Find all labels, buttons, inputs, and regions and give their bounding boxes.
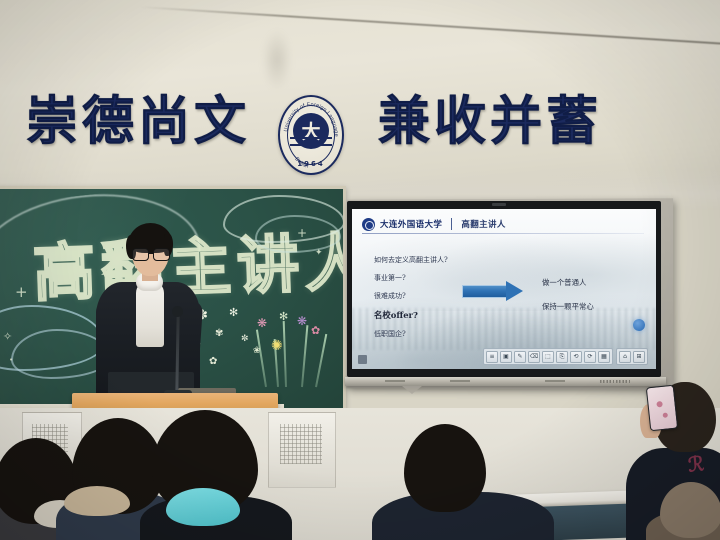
audience-member-4-head [404,424,486,512]
wall-smudge [262,30,292,90]
chalk-sparkle-icon: + [297,227,307,239]
chalk-stem [256,330,267,388]
chalk-flower-icon: ✼ [241,335,249,344]
slide-question-item: 很难成功? [374,291,448,301]
slide-header-divider [451,218,452,230]
chalk-flower-icon: ❀ [253,347,261,356]
slide-question-item-emphasis: 名校offer? [374,309,448,321]
university-emblem: University of Foreign Languages Dalian 大… [278,95,344,175]
toolbar-copy-icon[interactable]: ⎘ [556,351,568,363]
slide-answer-item: 做一个普通人 [542,277,594,288]
wall-motto-left: 崇德尚文 [26,96,250,148]
eyeglasses-icon [131,248,171,260]
chalk-sparkle-icon: • [9,357,13,364]
toolbar-home-icon[interactable]: ⌂ [619,351,631,363]
slide-question-list: 如何去定义高翻主讲人? 事业第一? 很难成功? 名校offer? 低职国企? [374,255,448,347]
toolbar-shape-icon[interactable]: ⬚ [542,351,554,363]
audience-member-6-head [660,482,720,538]
chalk-stem [315,334,327,387]
chin-marking [450,380,470,382]
slide-question-item: 低职国企? [374,329,448,339]
podium-microphone-head [172,306,183,317]
floating-menu-orb-icon[interactable] [633,319,645,331]
slide-corner-icon[interactable] [358,355,367,364]
chalk-flower-icon: ✾ [215,329,223,339]
slide-section-title: 高翻主讲人 [461,218,506,230]
slide-university-logo-icon [362,218,375,231]
smart-board-camera-icon [492,203,506,206]
toolbar-menu-icon[interactable]: ≡ [486,351,498,363]
chalk-cloud-icon [255,215,341,253]
toolbar-apps-icon[interactable]: ⊞ [633,351,645,363]
toolbar-eraser-icon[interactable]: ⌫ [528,351,540,363]
wall-motto-right: 兼收并蓄 [378,96,602,148]
lecture-hall-photo: 崇德尚文 兼收并蓄 University of Foreign Language… [0,0,720,540]
slide-university-name: 大连外国语大学 [380,218,442,230]
slide-answer-item: 保持一颗平常心 [542,301,594,312]
smart-board-toolbar[interactable]: ≡ ▣ ✎ ⌫ ⬚ ⎘ ⟲ ⟳ ▦ ⌂ ⊞ [483,348,648,365]
toolbar-group-primary[interactable]: ≡ ▣ ✎ ⌫ ⬚ ⎘ ⟲ ⟳ ▦ [483,348,613,365]
chalk-stem [283,321,287,387]
toolbar-redo-icon[interactable]: ⟳ [584,351,596,363]
chalk-cloud-icon [223,195,343,243]
chalk-flower-icon: ✻ [229,307,238,318]
chin-marking [385,380,405,382]
chalk-flower-icon: ✿ [209,357,217,367]
chin-marking [545,380,565,382]
slide-question-item: 如何去定义高翻主讲人? [374,255,448,265]
emblem-bars [290,137,332,155]
emblem-year: 1964 [280,160,342,168]
smartphone-screen[interactable] [646,385,678,432]
chalk-sparkle-icon: ✦ [315,249,323,258]
toolbar-select-icon[interactable]: ▣ [500,351,512,363]
chalk-flower-icon: ❋ [257,317,267,329]
chalk-stem [301,325,308,387]
slide-header: 大连外国语大学 高翻主讲人 [362,216,646,232]
smart-board-wall-mount [402,386,422,394]
chalk-flower-icon: ✿ [311,325,320,336]
audience-member-3-neck-gaiter [166,488,240,526]
chalk-sparkle-icon: ✧ [3,331,12,342]
smart-board-vent-icon [600,380,630,383]
chalk-flower-icon: ✺ [271,339,283,353]
toolbar-grid-icon[interactable]: ▦ [598,351,610,363]
slide-answer-list: 做一个普通人 保持一颗平常心 [542,277,594,325]
wall-seam-line [140,6,720,46]
slide-header-rule [362,233,644,234]
chalk-stem [274,339,279,387]
jacket-embroidery-icon: ℛ [687,451,705,477]
toolbar-undo-icon[interactable]: ⟲ [570,351,582,363]
chalk-flower-icon: ❋ [297,315,307,327]
slide-question-item: 事业第一? [374,273,448,283]
wall-speaker-grille-icon [280,424,322,464]
toolbar-pen-icon[interactable]: ✎ [514,351,526,363]
audience-member-2-collar [64,486,130,516]
smart-board-screen[interactable]: 大连外国语大学 高翻主讲人 如何去定义高翻主讲人? 事业第一? 很难成功? 名校… [352,209,656,369]
chalk-sparkle-icon: + [15,285,28,300]
slide-arrow-icon [462,281,524,299]
chalk-flower-icon: ✻ [279,311,288,322]
toolbar-group-secondary[interactable]: ⌂ ⊞ [616,348,648,365]
chalk-cloud-icon [0,305,105,371]
